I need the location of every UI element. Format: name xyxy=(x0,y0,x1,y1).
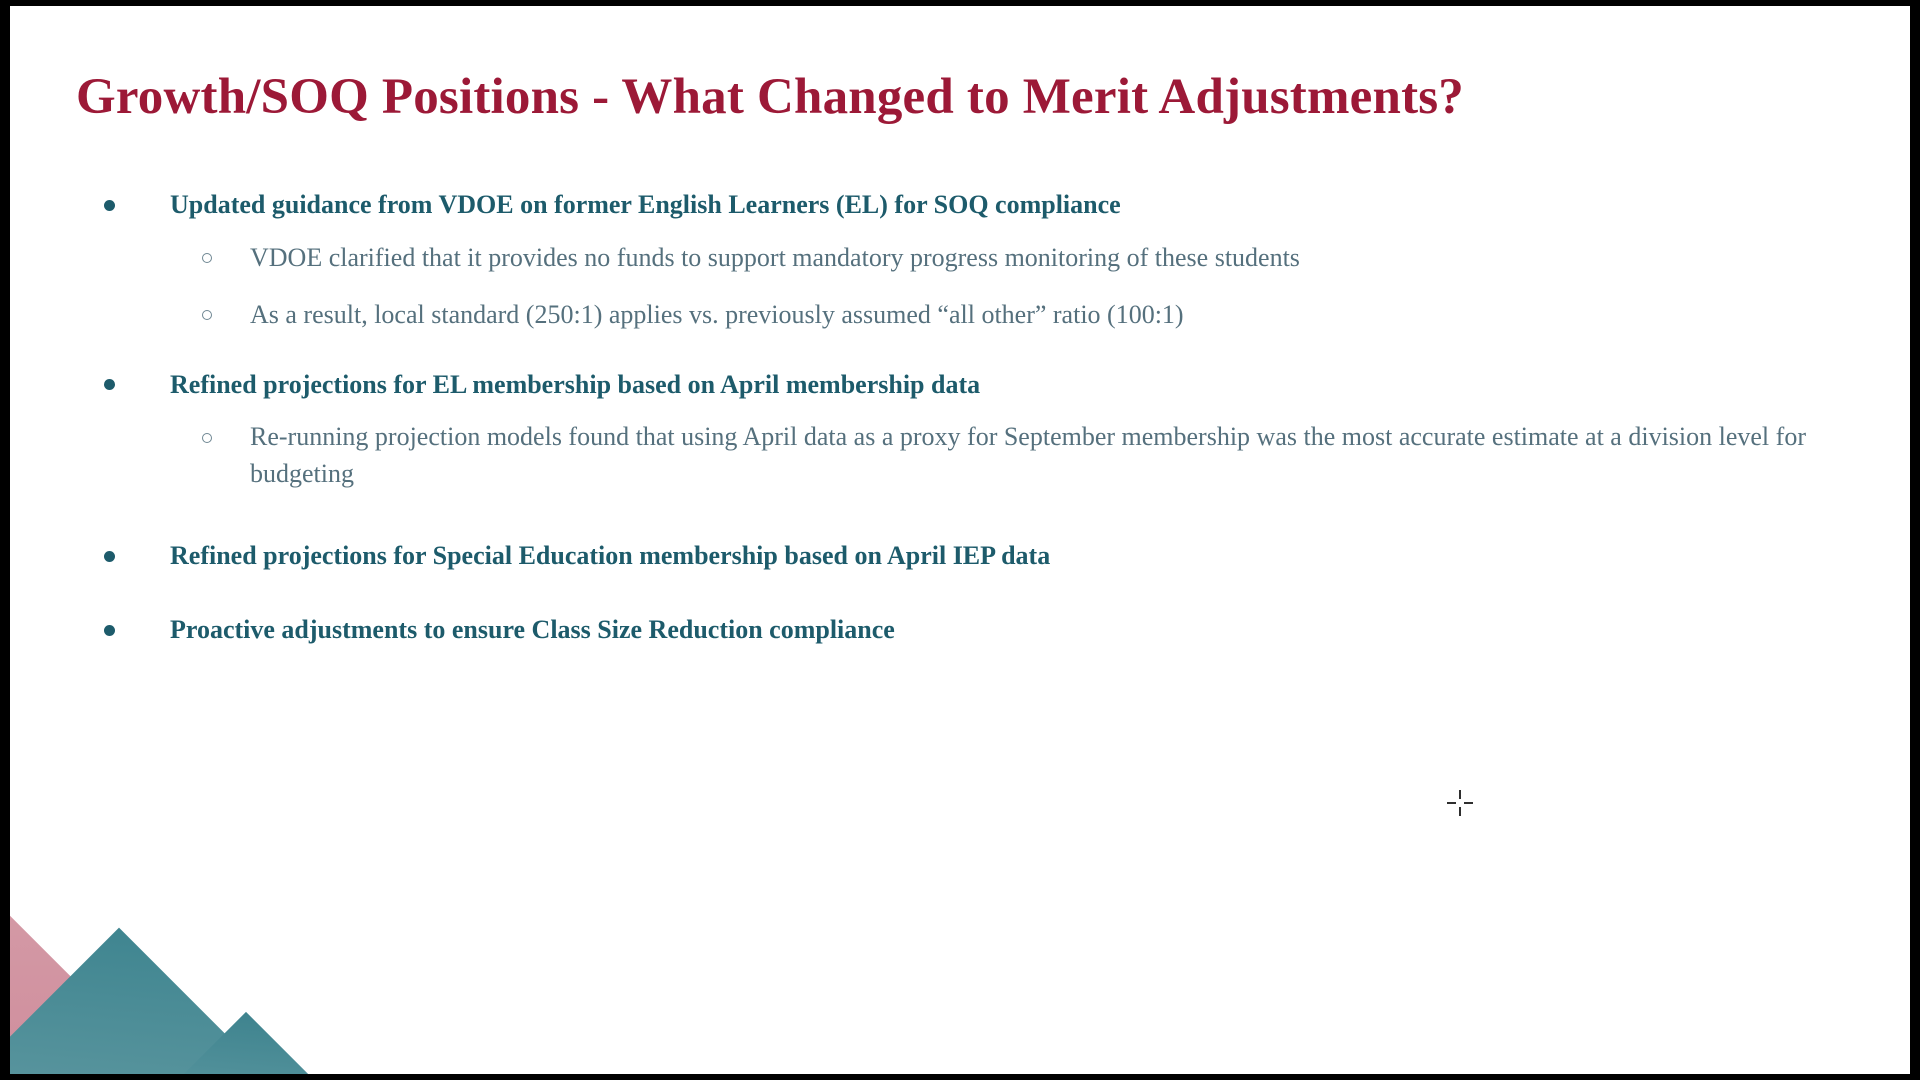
slide-body-bullet-list: Updated guidance from VDOE on former Eng… xyxy=(80,188,1820,653)
bullet-text: Re-running projection models found that … xyxy=(250,422,1806,488)
bullet-text: Proactive adjustments to ensure Class Si… xyxy=(170,615,895,644)
bullet-text: Refined projections for EL membership ba… xyxy=(170,370,980,399)
decorative-teal-diamond-back xyxy=(10,928,352,1074)
bullet-disc-icon xyxy=(104,200,115,211)
bullet-text: As a result, local standard (250:1) appl… xyxy=(250,300,1184,329)
presentation-slide: Growth/SOQ Positions - What Changed to M… xyxy=(10,6,1910,1074)
bullet-disc-icon xyxy=(104,379,115,390)
bullet-circle-icon xyxy=(202,253,212,263)
bullet-level1: Proactive adjustments to ensure Class Si… xyxy=(80,613,1820,647)
letterbox-left xyxy=(0,0,10,1080)
letterbox-bottom xyxy=(0,1074,1920,1080)
bullet-text: Updated guidance from VDOE on former Eng… xyxy=(170,190,1121,219)
slide-title: Growth/SOQ Positions - What Changed to M… xyxy=(76,68,1876,126)
decorative-teal-diamond-front xyxy=(34,1012,458,1074)
bullet-level1: Refined projections for EL membership ba… xyxy=(80,368,1820,402)
letterbox-right xyxy=(1910,0,1920,1080)
screen: Growth/SOQ Positions - What Changed to M… xyxy=(0,0,1920,1080)
bullet-disc-icon xyxy=(104,551,115,562)
decorative-pink-diamond xyxy=(10,898,218,1074)
bullet-text: Refined projections for Special Educatio… xyxy=(170,541,1050,570)
bullet-level1: Refined projections for Special Educatio… xyxy=(80,539,1820,573)
bullet-circle-icon xyxy=(202,433,212,443)
bullet-circle-icon xyxy=(202,310,212,320)
crosshair-center-gap xyxy=(1456,799,1464,807)
bullet-level2: VDOE clarified that it provides no funds… xyxy=(80,240,1820,277)
bullet-level1: Updated guidance from VDOE on former Eng… xyxy=(80,188,1820,222)
bullet-text: VDOE clarified that it provides no funds… xyxy=(250,243,1300,272)
letterbox-top xyxy=(0,0,1920,6)
spacer xyxy=(80,579,1820,613)
spacer xyxy=(80,513,1820,539)
bullet-level2: Re-running projection models found that … xyxy=(80,419,1820,493)
spacer xyxy=(80,354,1820,368)
bullet-disc-icon xyxy=(104,625,115,636)
crosshair-cursor-icon xyxy=(1447,790,1473,816)
bullet-level2: As a result, local standard (250:1) appl… xyxy=(80,297,1820,334)
